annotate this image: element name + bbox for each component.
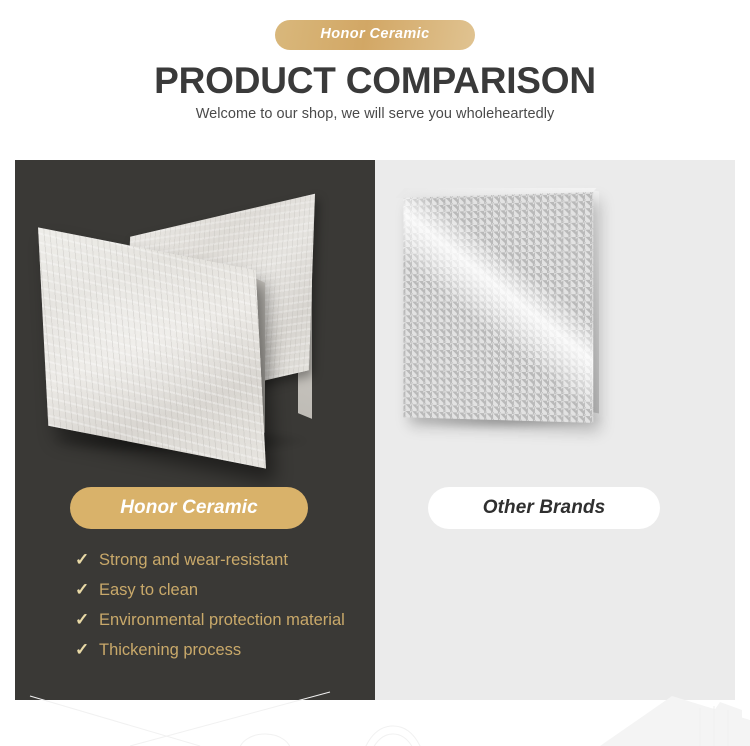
feature-text: Thickening process	[99, 638, 241, 662]
other-brand-product-image	[375, 160, 735, 480]
page-title: PRODUCT COMPARISON	[0, 62, 750, 101]
honor-ceramic-product-image	[15, 160, 375, 480]
granite-front-face	[403, 192, 593, 423]
check-icon: ✓	[75, 608, 99, 632]
badge-other-brands: Other Brands	[428, 487, 660, 529]
list-item: ✓ Strong and wear-resistant	[75, 548, 355, 572]
check-icon: ✓	[75, 578, 99, 602]
product-comparison-page: Honor Ceramic PRODUCT COMPARISON Welcome…	[0, 0, 750, 746]
brand-pill-badge: Honor Ceramic	[275, 20, 475, 50]
panel-other-brands: Other Brands ✕ Easy to wear ✕ Troublesom…	[375, 160, 735, 700]
feature-text: Strong and wear-resistant	[99, 548, 288, 572]
list-item: ✓ Environmental protection material	[75, 608, 355, 632]
panel-honor-ceramic: Honor Ceramic ✓ Strong and wear-resistan…	[15, 160, 375, 700]
feature-text: Environmental protection material	[99, 608, 345, 632]
check-icon: ✓	[75, 548, 99, 572]
badge-honor-ceramic: Honor Ceramic	[70, 487, 308, 529]
check-icon: ✓	[75, 638, 99, 662]
feature-text: Easy to clean	[99, 578, 198, 602]
honor-ceramic-feature-list: ✓ Strong and wear-resistant ✓ Easy to cl…	[75, 548, 355, 668]
page-subtitle: Welcome to our shop, we will serve you w…	[0, 106, 750, 122]
page-header: Honor Ceramic PRODUCT COMPARISON Welcome…	[0, 0, 750, 150]
comparison-panels: Honor Ceramic ✓ Strong and wear-resistan…	[15, 160, 735, 700]
list-item: ✓ Easy to clean	[75, 578, 355, 602]
list-item: ✓ Thickening process	[75, 638, 355, 662]
